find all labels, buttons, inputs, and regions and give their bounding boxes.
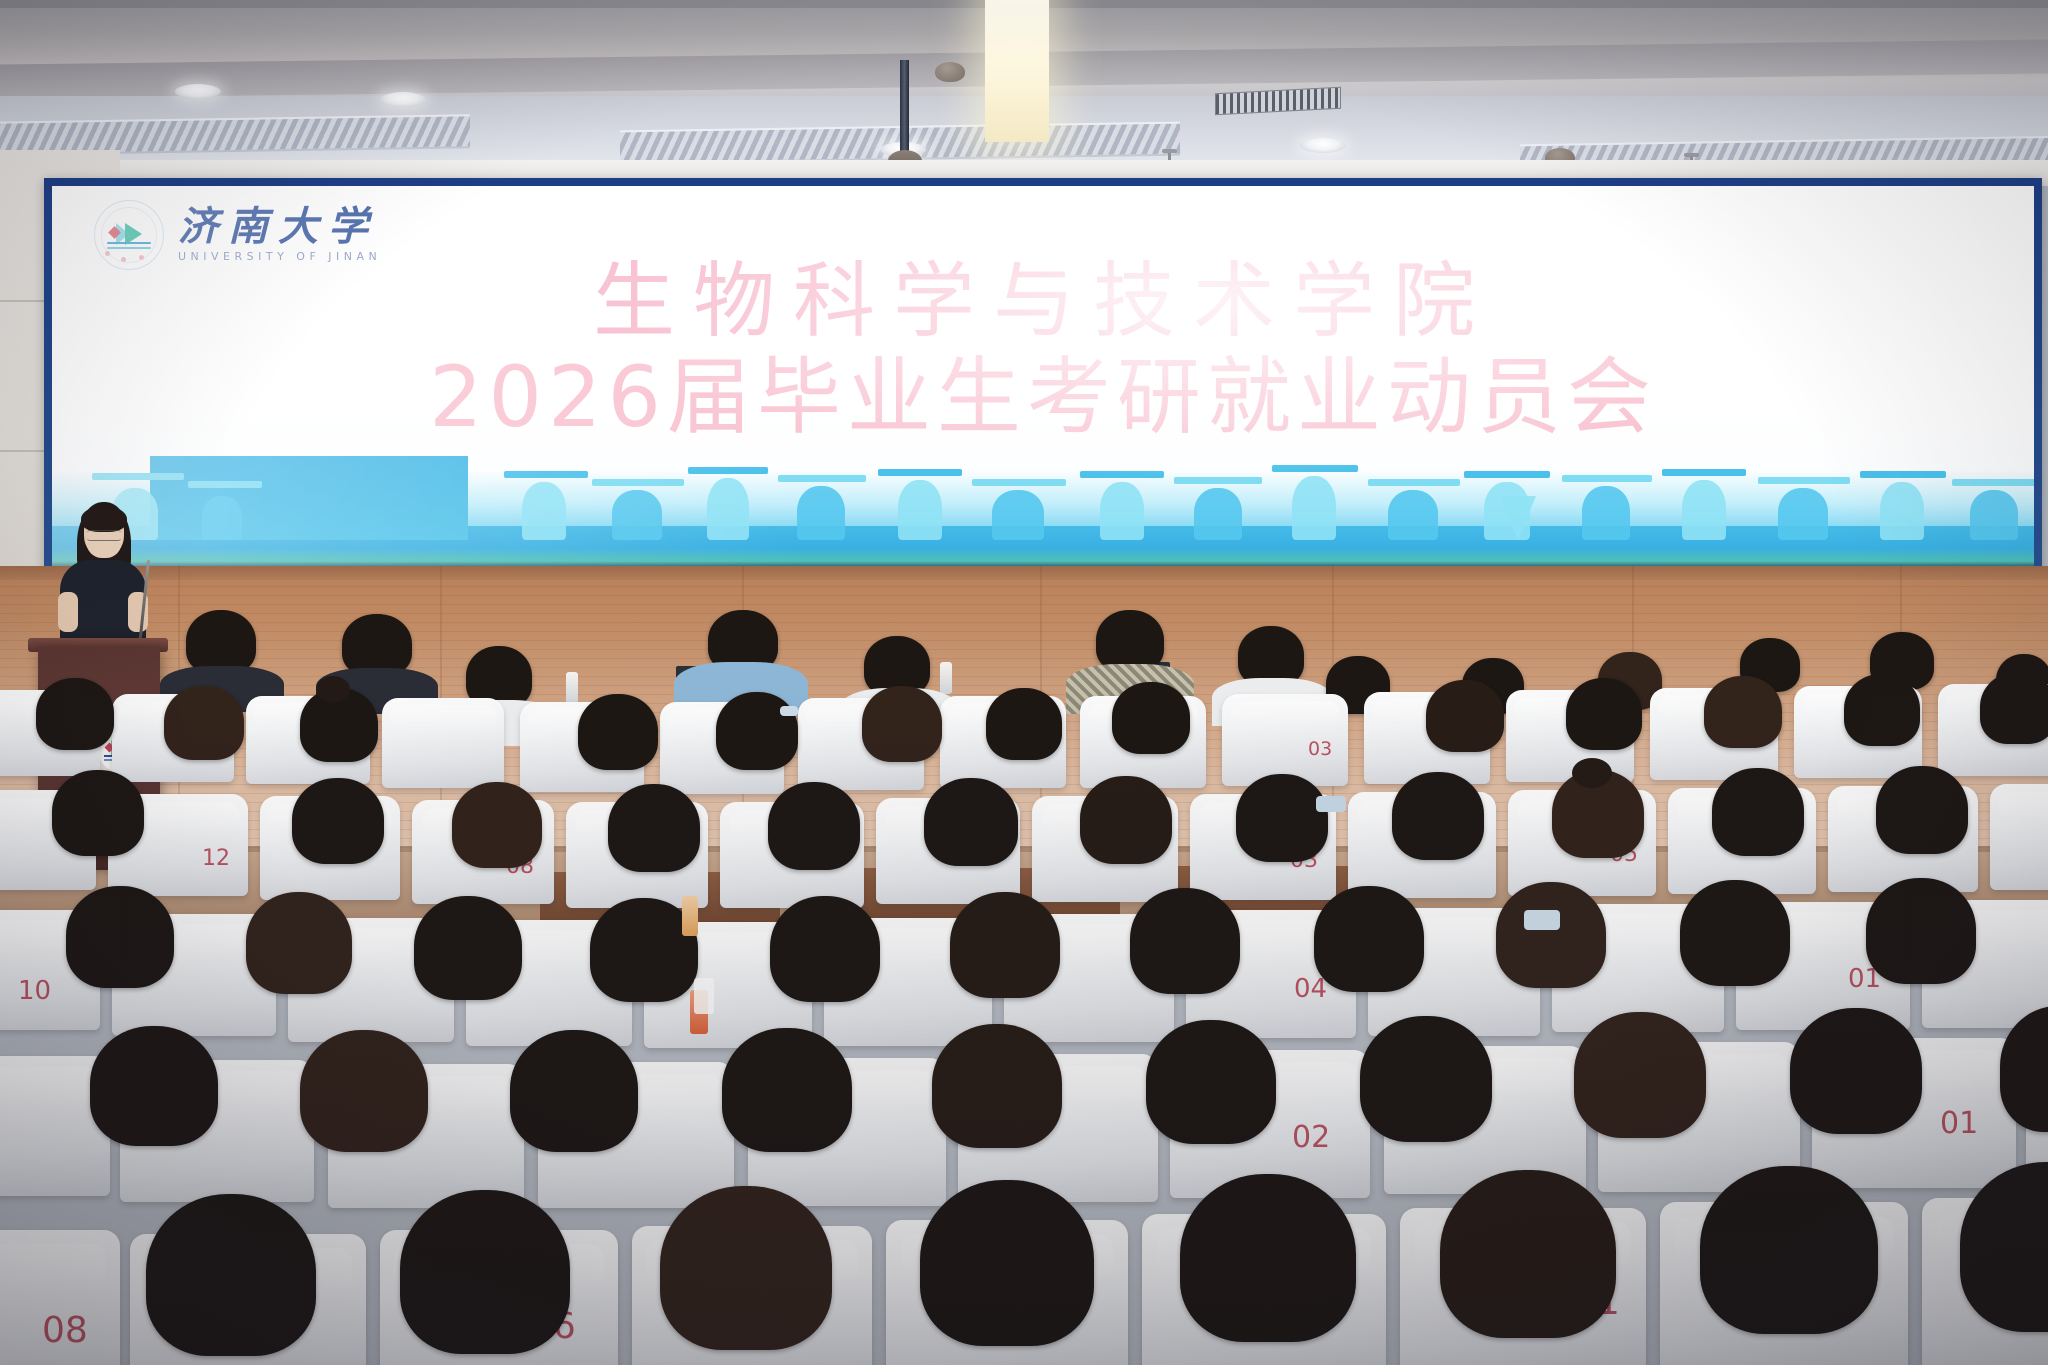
hair-bun xyxy=(316,676,350,702)
attendee-head xyxy=(578,694,658,770)
attendee-head xyxy=(920,1180,1094,1346)
attendee-head xyxy=(1680,880,1790,986)
ceiling-slot-light xyxy=(985,0,1049,142)
attendee-head xyxy=(1574,1012,1706,1138)
attendee-head xyxy=(400,1190,570,1354)
attendee-head xyxy=(300,1030,428,1152)
stage-wall-top-trim xyxy=(0,566,2048,580)
hair-clip-icon xyxy=(780,706,798,716)
slide-title-block: 生物科学与技术学院 2026届毕业生考研就业动员会 xyxy=(52,258,2034,443)
attendee-head xyxy=(146,1194,316,1356)
attendee-head xyxy=(770,896,880,1002)
presenter-fringe xyxy=(81,506,127,532)
attendee-head xyxy=(1866,878,1976,984)
attendee-head xyxy=(510,1030,638,1152)
attendee-head xyxy=(36,678,114,750)
logo-chinese-name: 济南大学 xyxy=(178,207,381,247)
auditorium-photo: 济南大学 UNIVERSITY OF JINAN 生物科学与技术学院 2026届… xyxy=(0,0,2048,1365)
attendee-head xyxy=(452,782,542,868)
projection-screen: 济南大学 UNIVERSITY OF JINAN 生物科学与技术学院 2026届… xyxy=(52,186,2034,566)
slide-title-line-2: 2026届毕业生考研就业动员会 xyxy=(52,351,2034,443)
seat-number: 04 xyxy=(1294,974,1327,1004)
seat: 03 xyxy=(1222,694,1348,786)
seat-number: 01 xyxy=(1940,1106,1978,1141)
attendee-head xyxy=(1392,772,1484,860)
projector-mount-pole xyxy=(900,60,909,160)
attendee-head xyxy=(862,686,942,762)
smoke-detector-icon xyxy=(935,62,965,82)
attendee-head xyxy=(1360,1016,1492,1142)
seat-number: 12 xyxy=(202,846,230,871)
attendee-head xyxy=(90,1026,218,1146)
downlight-icon xyxy=(380,92,426,107)
attendee-head xyxy=(186,610,256,674)
attendee-head xyxy=(1440,1170,1616,1338)
attendee-head xyxy=(1426,680,1504,752)
attendee-head xyxy=(1712,768,1804,856)
attendee-head xyxy=(164,686,244,760)
hair-clip-icon xyxy=(1524,910,1560,930)
attendee-head xyxy=(924,778,1018,866)
attendee-head xyxy=(414,896,522,1000)
attendee-head xyxy=(1566,678,1642,750)
water-bottle-icon xyxy=(566,672,578,704)
graduate-silhouette-graphic xyxy=(52,456,2034,566)
seat xyxy=(382,698,504,788)
attendee-head xyxy=(342,614,412,676)
attendee-head xyxy=(950,892,1060,998)
seat-number: 08 xyxy=(42,1310,88,1351)
attendee-head xyxy=(722,1028,852,1152)
attendee-head xyxy=(52,770,144,856)
attendee-head xyxy=(1096,610,1164,672)
attendee-head xyxy=(1496,882,1606,988)
hair-clip-icon xyxy=(1316,796,1346,812)
seat-number: 03 xyxy=(1308,738,1332,760)
seat: 08 xyxy=(0,1230,120,1365)
seat xyxy=(1990,784,2048,890)
attendee-head xyxy=(292,778,384,864)
attendee-head xyxy=(1700,1166,1878,1334)
attendee-head xyxy=(660,1186,832,1350)
attendee-head xyxy=(1844,674,1920,746)
attendee-head xyxy=(1876,766,1968,854)
downlight-icon xyxy=(1300,138,1346,153)
cup-icon xyxy=(694,978,714,1014)
attendee-head xyxy=(986,688,1062,760)
attendee-head xyxy=(1314,886,1424,992)
attendee-head xyxy=(1236,774,1328,862)
attendee-head xyxy=(1238,626,1304,686)
attendee-head xyxy=(608,784,700,872)
attendee-head xyxy=(1704,676,1782,748)
seat-number: 10 xyxy=(18,976,51,1006)
attendee-head xyxy=(932,1024,1062,1148)
hair-bun xyxy=(1572,758,1612,788)
attendee-head xyxy=(66,886,174,988)
slide-title-line-1: 生物科学与技术学院 xyxy=(52,258,2034,347)
downlight-icon xyxy=(175,84,221,99)
attendee-head xyxy=(1146,1020,1276,1144)
attendee-head xyxy=(1112,682,1190,754)
attendee-head xyxy=(716,692,798,770)
water-bottle-icon xyxy=(940,662,952,694)
silhouette-podium xyxy=(150,456,468,540)
attendee-head xyxy=(768,782,860,870)
drink-cup-icon xyxy=(682,896,698,936)
attendee-head xyxy=(1980,672,2048,744)
attendee-head xyxy=(1080,776,1172,864)
audience-area: 03 06 12 08 xyxy=(0,610,2048,1365)
seat-number: 02 xyxy=(1292,1120,1330,1155)
attendee-head xyxy=(1180,1174,1356,1342)
eyeglasses-icon xyxy=(87,530,121,541)
attendee-head xyxy=(246,892,352,994)
attendee-head xyxy=(1790,1008,1922,1134)
attendee-head xyxy=(1130,888,1240,994)
